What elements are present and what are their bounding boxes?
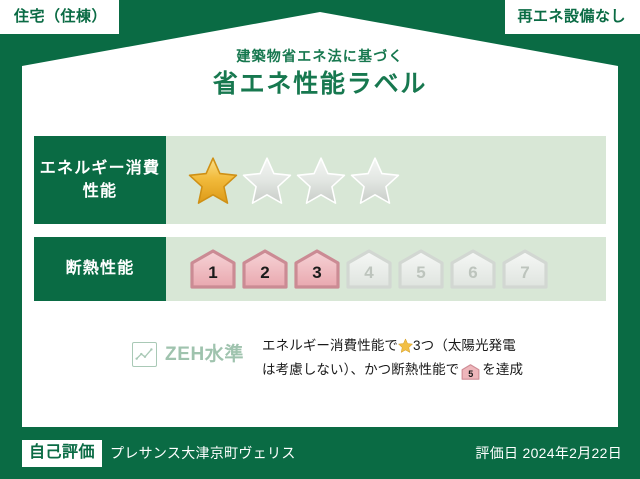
zeh-desc-part1: エネルギー消費性能で bbox=[262, 338, 398, 353]
footer-left: 自己評価 プレサンス大津京町ヴェリス bbox=[22, 440, 296, 467]
zeh-desc-part3: を達成 bbox=[482, 362, 523, 377]
zeh-section: ZEH水準 エネルギー消費性能で 3つ（太陽光発電 は考慮しない）、かつ断熱性能… bbox=[34, 334, 606, 381]
insulation-grade-value: 1 bbox=[208, 264, 217, 290]
inline-star-icon bbox=[398, 338, 413, 353]
insulation-grade-value: 7 bbox=[520, 264, 529, 290]
insulation-grade-bar: 1234567 bbox=[188, 248, 550, 290]
star-empty-icon bbox=[350, 156, 400, 204]
insulation-grade-6: 6 bbox=[448, 248, 498, 290]
star-rating bbox=[188, 156, 400, 204]
trend-chart-icon bbox=[132, 342, 157, 367]
insulation-grade-value: 4 bbox=[364, 264, 373, 290]
insulation-grade-3: 3 bbox=[292, 248, 342, 290]
insulation-performance-label: 断熱性能 bbox=[34, 237, 166, 301]
zeh-label: ZEH水準 bbox=[165, 345, 244, 364]
evaluation-date: 評価日 2024年2月22日 bbox=[475, 446, 622, 460]
star-empty-icon bbox=[296, 156, 346, 204]
insulation-grade-7: 7 bbox=[500, 248, 550, 290]
zeh-desc-star-count: 3つ（太陽光発電 bbox=[413, 338, 516, 353]
inline-grade-value: 5 bbox=[461, 364, 480, 385]
building-name: プレサンス大津京町ヴェリス bbox=[110, 446, 296, 460]
insulation-grade-value: 5 bbox=[416, 264, 425, 290]
insulation-grade-value: 3 bbox=[312, 264, 321, 290]
zeh-description: エネルギー消費性能で 3つ（太陽光発電 は考慮しない）、かつ断熱性能で 5 を達… bbox=[262, 334, 606, 381]
footer: 自己評価 プレサンス大津京町ヴェリス 評価日 2024年2月22日 bbox=[0, 427, 640, 479]
page-title: 建築物省エネ法に基づく 省エネ性能ラベル bbox=[0, 48, 640, 102]
star-filled-icon bbox=[188, 156, 238, 204]
energy-performance-label: 住宅（住棟） 再エネ設備なし 建築物省エネ法に基づく 省エネ性能ラベル エネルギ… bbox=[0, 0, 640, 479]
evaluation-type-badge: 自己評価 bbox=[22, 440, 102, 467]
housing-type-tag: 住宅（住棟） bbox=[0, 0, 119, 34]
zeh-mark: ZEH水準 bbox=[132, 334, 244, 367]
title-main: 省エネ性能ラベル bbox=[0, 68, 640, 102]
title-subtitle: 建築物省エネ法に基づく bbox=[0, 48, 640, 65]
energy-performance-body bbox=[166, 136, 606, 224]
insulation-grade-4: 4 bbox=[344, 248, 394, 290]
insulation-grade-5: 5 bbox=[396, 248, 446, 290]
insulation-grade-value: 2 bbox=[260, 264, 269, 290]
insulation-performance-body: 1234567 bbox=[166, 237, 606, 301]
renewable-energy-tag: 再エネ設備なし bbox=[505, 0, 640, 34]
inline-grade-badge: 5 bbox=[461, 364, 480, 380]
energy-performance-label: エネルギー消費性能 bbox=[34, 136, 166, 224]
zeh-desc-part2: は考慮しない）、かつ断熱性能で bbox=[262, 362, 459, 377]
insulation-grade-2: 2 bbox=[240, 248, 290, 290]
insulation-grade-1: 1 bbox=[188, 248, 238, 290]
insulation-grade-value: 6 bbox=[468, 264, 477, 290]
star-empty-icon bbox=[242, 156, 292, 204]
energy-performance-row: エネルギー消費性能 bbox=[34, 136, 606, 224]
insulation-performance-row: 断熱性能 1234567 bbox=[34, 237, 606, 301]
